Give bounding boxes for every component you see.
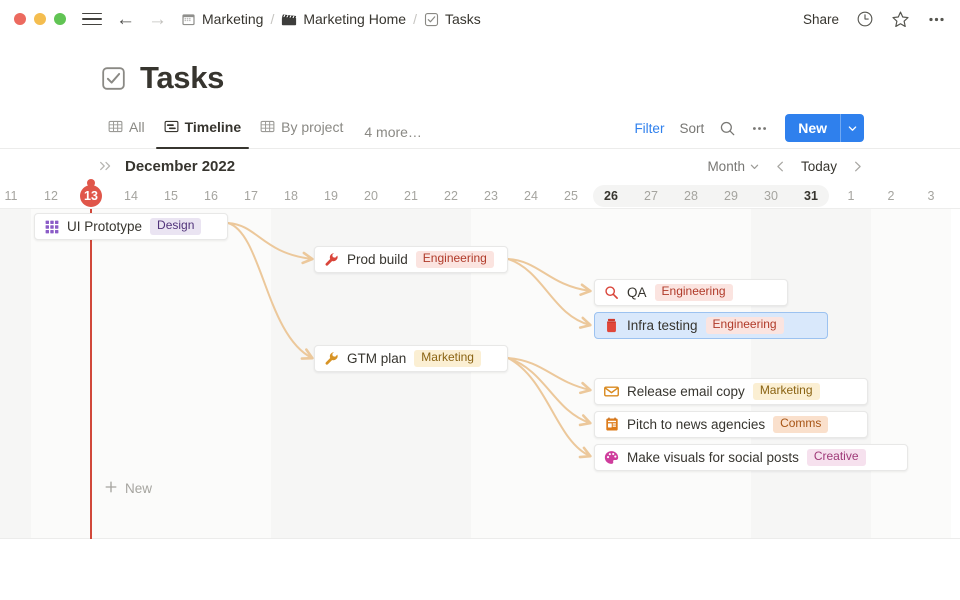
timeline-card-make-visuals-for-social-posts[interactable]: Make visuals for social postsCreative	[594, 444, 908, 471]
timeline-column	[871, 209, 951, 539]
timeline-card-prod-build[interactable]: Prod buildEngineering	[314, 246, 508, 273]
timeline-scale-selector[interactable]: Month	[707, 159, 760, 174]
ruler-day[interactable]: 14	[111, 183, 151, 209]
card-title: UI Prototype	[67, 219, 142, 234]
view-toolbar: Filter Sort New	[634, 114, 864, 148]
card-title: Infra testing	[627, 318, 698, 333]
breadcrumb-item-marketing-home[interactable]: Marketing Home	[281, 11, 406, 27]
ruler-day[interactable]: 16	[191, 183, 231, 209]
ruler-day[interactable]: 11	[0, 183, 31, 209]
titlebar-actions: Share	[803, 10, 946, 29]
card-tag: Marketing	[753, 383, 820, 401]
timeline-card-release-email-copy[interactable]: Release email copyMarketing	[594, 378, 868, 405]
add-new-row-button[interactable]: New	[104, 480, 152, 497]
news-orange-icon	[604, 417, 619, 432]
chevron-down-icon	[749, 161, 760, 172]
page-title: Tasks	[140, 60, 224, 96]
today-day-pill: 13	[80, 185, 102, 207]
ruler-day[interactable]: 23	[471, 183, 511, 209]
share-button[interactable]: Share	[803, 12, 839, 27]
timeline-canvas[interactable]: UI PrototypeDesign Prod buildEngineering…	[0, 209, 960, 539]
timeline-date-ruler[interactable]: 1112131415161718192021222324252627282930…	[0, 183, 960, 209]
nav-arrows: ← →	[116, 10, 167, 29]
timeline-card-infra-testing[interactable]: Infra testingEngineering	[594, 312, 828, 339]
timeline-scale-label: Month	[707, 159, 745, 174]
chevron-right-icon[interactable]	[851, 160, 864, 173]
today-marker-line	[90, 209, 92, 539]
wrench-orange-icon	[324, 351, 339, 366]
wrench-red-icon	[324, 252, 339, 267]
ruler-day[interactable]: 3	[911, 183, 951, 209]
star-icon[interactable]	[891, 10, 910, 29]
ruler-day[interactable]: 27	[631, 183, 671, 209]
timeline-month-label: December 2022	[125, 158, 235, 175]
sort-button[interactable]: Sort	[679, 121, 704, 136]
card-title: GTM plan	[347, 351, 406, 366]
more-horizontal-icon[interactable]	[927, 10, 946, 29]
ruler-day[interactable]: 17	[231, 183, 271, 209]
breadcrumb-item-marketing[interactable]: Marketing	[181, 11, 263, 27]
card-tag: Marketing	[414, 350, 481, 368]
window-title-bar: ← → Marketing /	[0, 0, 960, 38]
ruler-day[interactable]: 12	[31, 183, 71, 209]
new-button[interactable]: New	[785, 114, 840, 142]
chevron-down-icon[interactable]	[840, 114, 864, 142]
minimize-button[interactable]	[34, 13, 46, 25]
hamburger-icon[interactable]	[82, 9, 102, 30]
more-horizontal-icon[interactable]	[751, 120, 768, 137]
card-title: Release email copy	[627, 384, 745, 399]
forward-icon[interactable]: →	[148, 10, 167, 29]
card-tag: Engineering	[655, 284, 733, 302]
card-title: Prod build	[347, 252, 408, 267]
calendar-icon	[181, 12, 196, 27]
add-new-label: New	[125, 481, 152, 496]
breadcrumb-separator: /	[413, 11, 417, 27]
tab-label: All	[129, 119, 145, 135]
ruler-day[interactable]: 31	[791, 183, 831, 209]
card-title: Make visuals for social posts	[627, 450, 799, 465]
ruler-day[interactable]: 18	[271, 183, 311, 209]
breadcrumb-item-tasks[interactable]: Tasks	[424, 11, 481, 27]
timeline-column	[471, 209, 751, 539]
card-tag: Design	[150, 218, 201, 236]
breadcrumb-separator: /	[270, 11, 274, 27]
card-tag: Comms	[773, 416, 828, 434]
ruler-day[interactable]: 1	[831, 183, 871, 209]
breadcrumb-label: Marketing Home	[303, 11, 406, 27]
jar-red-icon	[604, 318, 619, 333]
breadcrumb: Marketing / Marketing Home /	[181, 11, 481, 27]
ruler-day[interactable]: 15	[151, 183, 191, 209]
ruler-day[interactable]: 2	[871, 183, 911, 209]
new-button-group: New	[785, 114, 864, 142]
chevron-left-icon[interactable]	[774, 160, 787, 173]
tab-label: Timeline	[185, 119, 242, 135]
maximize-button[interactable]	[54, 13, 66, 25]
magnifier-red-icon	[604, 285, 619, 300]
palette-pink-icon	[604, 450, 619, 465]
timeline-card-pitch-to-news-agencies[interactable]: Pitch to news agenciesComms	[594, 411, 868, 438]
view-tabs: All Timeline By project 4 more…	[100, 113, 430, 148]
ruler-day[interactable]: 21	[391, 183, 431, 209]
timeline-card-gtm-plan[interactable]: GTM planMarketing	[314, 345, 508, 372]
timeline-card-qa[interactable]: QAEngineering	[594, 279, 788, 306]
card-title: QA	[627, 285, 647, 300]
back-icon[interactable]: ←	[116, 10, 135, 29]
ruler-day[interactable]: 20	[351, 183, 391, 209]
more-views-button[interactable]: 4 more…	[354, 124, 430, 148]
view-tab-bar: All Timeline By project 4 more…	[0, 113, 960, 149]
ruler-day[interactable]: 24	[511, 183, 551, 209]
ruler-day[interactable]: 25	[551, 183, 591, 209]
ruler-day[interactable]: 22	[431, 183, 471, 209]
checkbox-icon	[100, 65, 126, 91]
tab-all[interactable]: All	[100, 113, 153, 148]
breadcrumb-label: Tasks	[445, 11, 481, 27]
breadcrumb-label: Marketing	[202, 11, 263, 27]
search-icon[interactable]	[719, 120, 736, 137]
today-button[interactable]: Today	[801, 159, 837, 174]
clapperboard-icon	[281, 12, 297, 27]
chevron-double-right-icon[interactable]	[98, 159, 114, 173]
envelope-orange-icon	[604, 384, 619, 399]
close-button[interactable]	[14, 13, 26, 25]
tab-by-project[interactable]: By project	[252, 113, 351, 148]
ruler-day[interactable]: 19	[311, 183, 351, 209]
timeline-bottom-border	[0, 538, 960, 539]
checkbox-icon	[424, 12, 439, 27]
tab-timeline[interactable]: Timeline	[156, 113, 250, 148]
tab-label: By project	[281, 119, 343, 135]
ruler-day[interactable]: 28	[671, 183, 711, 209]
page-header: Tasks	[0, 38, 960, 96]
timeline-nav: Month Today	[707, 159, 864, 174]
page-title-row: Tasks	[100, 60, 960, 96]
timeline-column	[0, 209, 31, 539]
card-tag: Engineering	[706, 317, 784, 335]
ruler-day[interactable]: 29	[711, 183, 751, 209]
timeline-header: December 2022 Month Today	[0, 149, 960, 183]
clock-icon[interactable]	[856, 10, 874, 28]
today-marker-dot	[87, 179, 95, 187]
grid-icon	[44, 219, 59, 234]
timeline-column	[751, 209, 871, 539]
ruler-day[interactable]: 30	[751, 183, 791, 209]
timeline-card-ui-prototype[interactable]: UI PrototypeDesign	[34, 213, 228, 240]
card-title: Pitch to news agencies	[627, 417, 765, 432]
filter-button[interactable]: Filter	[634, 121, 664, 136]
ruler-day[interactable]: 26	[591, 183, 631, 209]
window-controls	[14, 13, 66, 25]
card-tag: Creative	[807, 449, 866, 467]
card-tag: Engineering	[416, 251, 494, 269]
table-icon	[260, 119, 275, 134]
plus-icon	[104, 480, 118, 497]
table-icon	[108, 119, 123, 134]
timeline-icon	[164, 119, 179, 134]
